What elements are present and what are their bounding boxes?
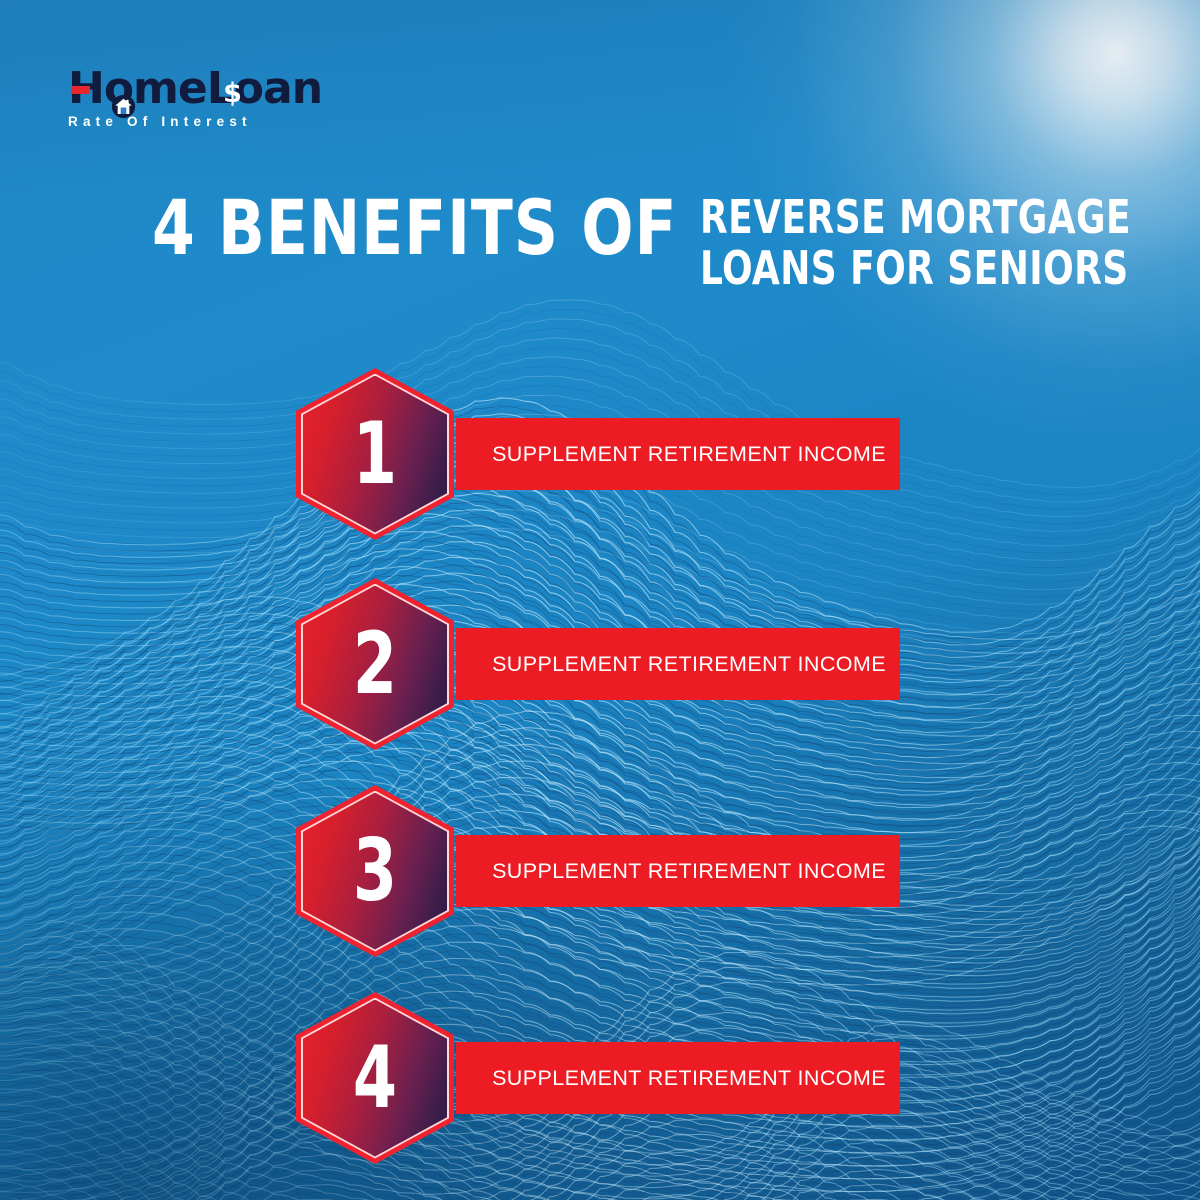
benefit-number-hexagon[interactable]: 4 xyxy=(296,992,454,1164)
brand-name-text: HomeLoan xyxy=(68,63,322,114)
brand-logo[interactable]: HomeLoan $ Rate Of Interest xyxy=(68,66,388,138)
headline-sub-block: REVERSE MORTGAGE LOANS FOR SENIORS xyxy=(700,192,1195,294)
infographic-poster: HomeLoan $ Rate Of Interest 4 BENEFITS O… xyxy=(0,0,1200,1200)
benefit-label-bar[interactable]: SUPPLEMENT RETIREMENT INCOME xyxy=(456,1042,900,1114)
logo-red-bar-icon xyxy=(71,86,90,94)
benefit-row[interactable]: SUPPLEMENT RETIREMENT INCOME3 xyxy=(296,785,900,957)
benefit-row[interactable]: SUPPLEMENT RETIREMENT INCOME1 xyxy=(296,368,900,540)
benefit-label-bar[interactable]: SUPPLEMENT RETIREMENT INCOME xyxy=(456,835,900,907)
benefit-number-hexagon[interactable]: 2 xyxy=(296,578,454,750)
dollar-sign-icon: $ xyxy=(219,79,245,109)
benefit-row[interactable]: SUPPLEMENT RETIREMENT INCOME2 xyxy=(296,578,900,750)
headline-sub-line-1: REVERSE MORTGAGE xyxy=(700,192,1131,243)
benefit-label-bar[interactable]: SUPPLEMENT RETIREMENT INCOME xyxy=(456,418,900,490)
benefit-label-bar[interactable]: SUPPLEMENT RETIREMENT INCOME xyxy=(456,628,900,700)
benefit-number-text: 2 xyxy=(310,578,440,750)
house-icon xyxy=(111,82,136,107)
benefit-label-text: SUPPLEMENT RETIREMENT INCOME xyxy=(470,859,886,884)
benefit-label-text: SUPPLEMENT RETIREMENT INCOME xyxy=(470,652,886,677)
headline-sub-line-2: LOANS FOR SENIORS xyxy=(700,243,1131,294)
benefit-label-text: SUPPLEMENT RETIREMENT INCOME xyxy=(470,1066,886,1091)
benefit-number-hexagon[interactable]: 1 xyxy=(296,368,454,540)
benefit-number-text: 3 xyxy=(310,785,440,957)
benefit-number-text: 4 xyxy=(310,992,440,1164)
brand-wordmark: HomeLoan $ xyxy=(68,66,388,112)
headline-main-text: 4 BENEFITS OF xyxy=(152,190,677,266)
benefit-row[interactable]: SUPPLEMENT RETIREMENT INCOME4 xyxy=(296,992,900,1164)
benefit-label-text: SUPPLEMENT RETIREMENT INCOME xyxy=(470,442,886,467)
benefit-number-text: 1 xyxy=(310,368,440,540)
benefit-number-hexagon[interactable]: 3 xyxy=(296,785,454,957)
headline-block: 4 BENEFITS OF REVERSE MORTGAGE LOANS FOR… xyxy=(152,186,1092,294)
